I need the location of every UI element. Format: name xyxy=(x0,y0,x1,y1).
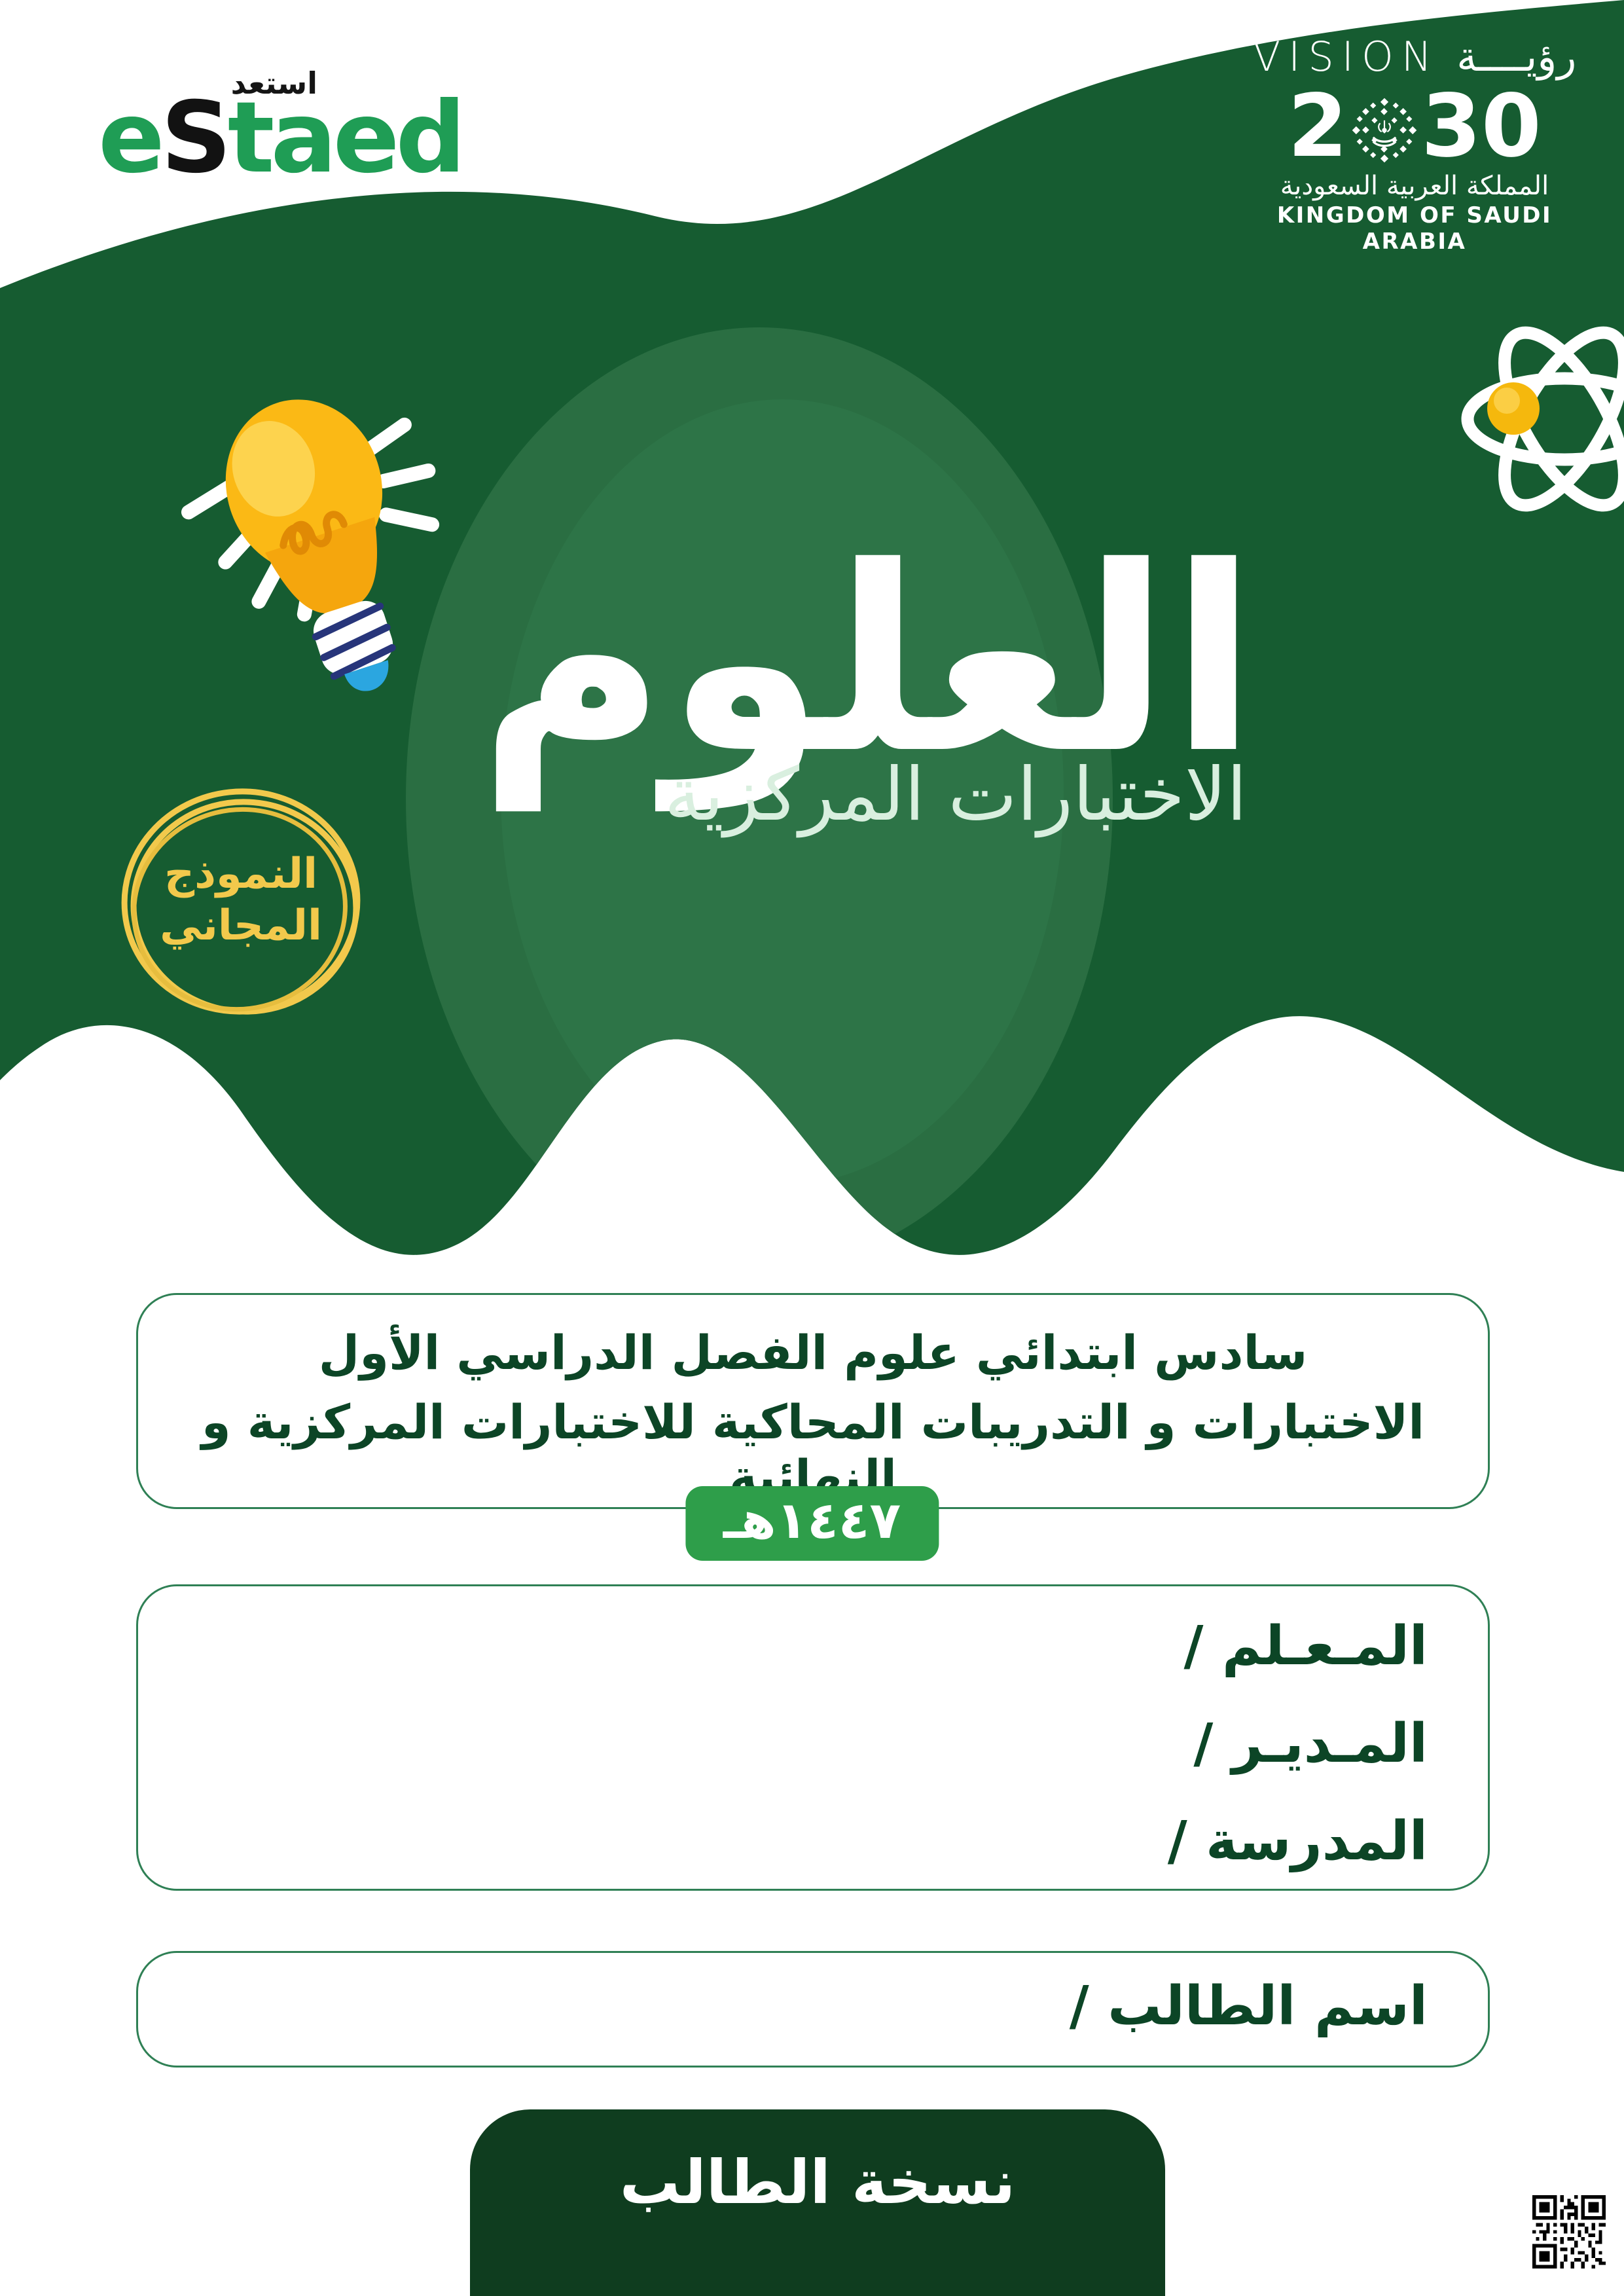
field-school-label[interactable]: المدرسة / xyxy=(138,1810,1488,1872)
hero-title-block: العلوم الاختبارات المركزية xyxy=(478,543,1257,837)
brand-letter-e: e xyxy=(98,81,161,195)
vision-digit-30: 30 xyxy=(1421,83,1542,170)
student-copy-button[interactable]: نسخة الطالب xyxy=(470,2109,1165,2296)
qr-code-icon[interactable] xyxy=(1532,2195,1606,2269)
brand-letter-s: S xyxy=(161,81,228,195)
vision-top-row: VISION رؤيــــة xyxy=(1257,33,1572,81)
brand-wordmark: eStaed xyxy=(98,89,462,187)
vision-kingdom-ar: المملكة العربية السعودية xyxy=(1257,171,1572,201)
brand-logo[interactable]: استعد eStaed xyxy=(98,65,504,216)
brand-letters-taed: taed xyxy=(228,81,462,195)
page-title: العلوم xyxy=(478,543,1257,778)
student-name-card[interactable]: اسم الطالب / xyxy=(136,1951,1490,2068)
badge-line-1: النموذج xyxy=(164,848,317,900)
vision-kingdom-en: KINGDOM OF SAUDI ARABIA xyxy=(1257,202,1572,255)
saudi-emblem-icon xyxy=(1349,95,1420,166)
academic-year-badge: ١٤٤٧هـ xyxy=(685,1486,939,1561)
free-sample-badge: النموذج المجاني xyxy=(110,776,372,1025)
badge-line-2: المجاني xyxy=(160,900,322,952)
badge-label: النموذج المجاني xyxy=(110,776,372,1025)
vision-word-ar: رؤيــــة xyxy=(1456,33,1576,81)
field-teacher-label[interactable]: المـعـلم / xyxy=(138,1615,1488,1677)
field-student-name-label[interactable]: اسم الطالب / xyxy=(138,1975,1488,2037)
roles-card[interactable]: المـعـلم / المـديـر / المدرسة / xyxy=(136,1584,1490,1891)
exam-info-line-1: سادس ابتدائي علوم الفصل الدراسي الأول xyxy=(138,1325,1488,1380)
vision-2030-logo: VISION رؤيــــة 2 xyxy=(1257,33,1572,255)
exam-info-card: سادس ابتدائي علوم الفصل الدراسي الأول ال… xyxy=(136,1293,1490,1509)
vision-year: 2 xyxy=(1257,83,1572,170)
vision-word-en: VISION xyxy=(1253,33,1440,81)
field-principal-label[interactable]: المـديـر / xyxy=(138,1713,1488,1775)
vision-digit-2: 2 xyxy=(1288,83,1348,170)
